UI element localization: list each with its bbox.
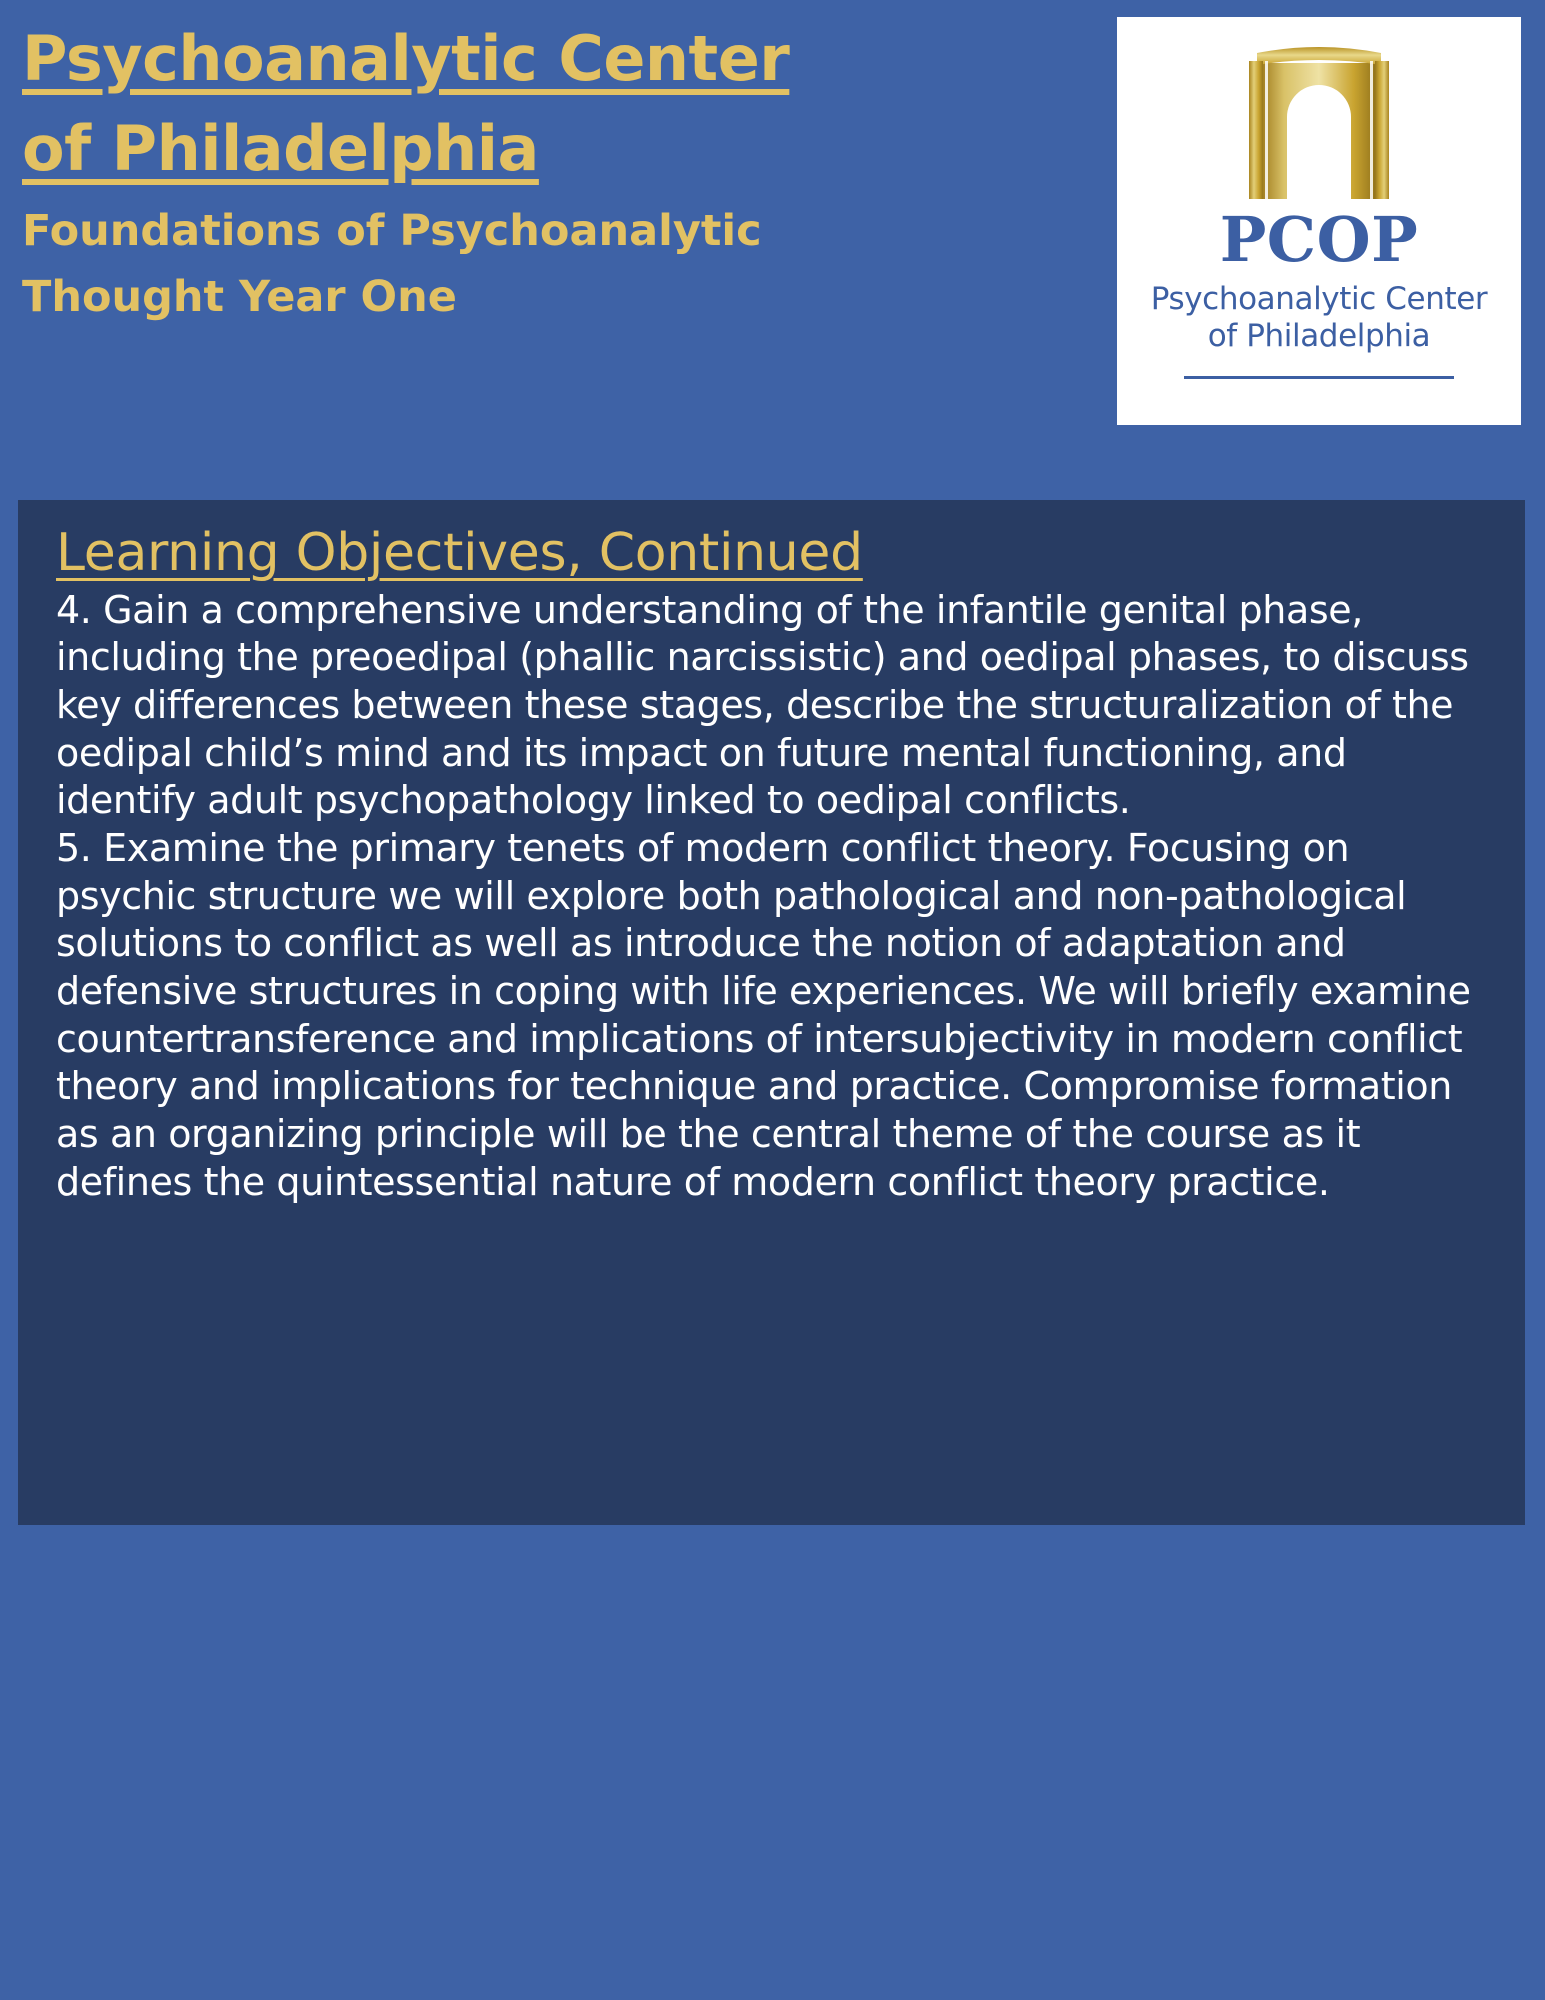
slide-header: Psychoanalytic Center of Philadelphia Fo…	[0, 0, 1545, 470]
objective-item-4: 4. Gain a comprehensive understanding of…	[56, 587, 1491, 825]
course-title-line1: Foundations of Psychoanalytic	[22, 206, 762, 256]
course-title-line2: Thought Year One	[22, 272, 457, 322]
pcop-logo: PCOP Psychoanalytic Center of Philadelph…	[1117, 17, 1521, 425]
logo-name-line1: Psychoanalytic Center	[1151, 281, 1488, 317]
header-title-block: Psychoanalytic Center of Philadelphia Fo…	[22, 14, 1112, 331]
panel-heading: Learning Objectives, Continued	[56, 526, 1491, 581]
organization-title-line1: Psychoanalytic Center	[22, 22, 789, 95]
logo-name: Psychoanalytic Center of Philadelphia	[1151, 281, 1488, 354]
logo-divider	[1184, 376, 1454, 379]
arch-icon	[1239, 39, 1399, 201]
objective-item-5: 5. Examine the primary tenets of modern …	[56, 825, 1491, 1207]
organization-title-line2: of Philadelphia	[22, 112, 539, 185]
course-title: Foundations of Psychoanalytic Thought Ye…	[22, 198, 1112, 331]
content-panel: Learning Objectives, Continued 4. Gain a…	[18, 500, 1525, 1525]
logo-acronym: PCOP	[1220, 209, 1419, 271]
organization-title: Psychoanalytic Center of Philadelphia	[22, 14, 1112, 194]
objectives-list: 4. Gain a comprehensive understanding of…	[56, 587, 1491, 1207]
logo-name-line2: of Philadelphia	[1208, 318, 1431, 354]
